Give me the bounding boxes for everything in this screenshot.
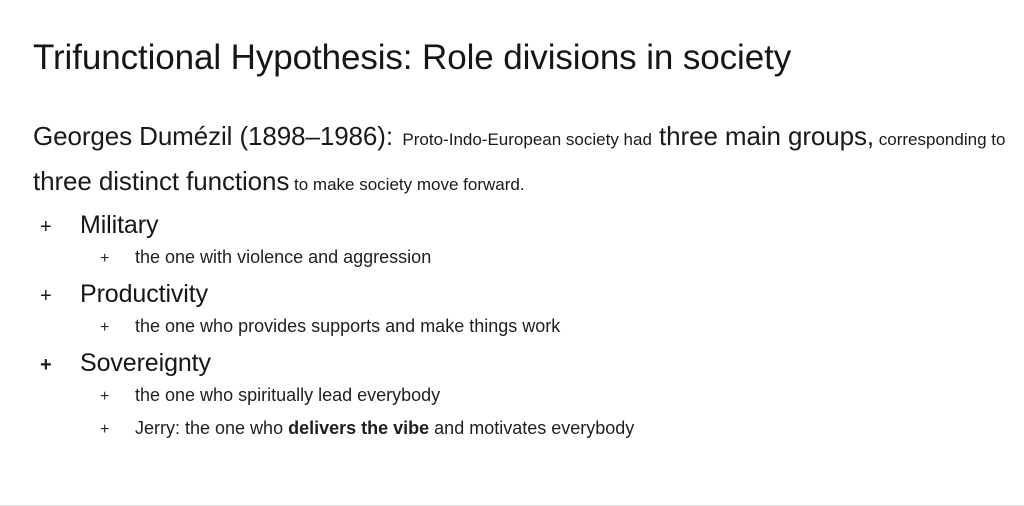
list-item-text-prefix: Jerry: the one who <box>135 418 288 438</box>
plus-icon: + <box>100 250 135 268</box>
list-item[interactable]: + Military <box>0 211 1024 247</box>
list-item[interactable]: + Productivity <box>0 280 1024 316</box>
list-item[interactable]: + the one who provides supports and make… <box>0 316 1024 349</box>
list-item-label: the one with violence and aggression <box>135 247 431 268</box>
lead-segment-forward: to make society move forward. <box>294 175 525 194</box>
list-item[interactable]: + the one who spiritually lead everybody <box>0 385 1024 418</box>
list-item[interactable]: + Sovereignty <box>0 349 1024 385</box>
list-item-label: the one who spiritually lead everybody <box>135 385 440 406</box>
slide-title: Trifunctional Hypothesis: Role divisions… <box>33 38 791 78</box>
list-item-text-bold: delivers the vibe <box>288 418 429 438</box>
lead-segment-three-functions: three distinct functions <box>33 166 289 196</box>
list-item-label: Military <box>80 211 158 240</box>
plus-icon: + <box>40 285 80 308</box>
lead-paragraph: Georges Dumézil (1898–1986): Proto-Indo-… <box>33 116 1008 206</box>
plus-icon: + <box>40 216 80 239</box>
bullet-list: + Military + the one with violence and a… <box>0 211 1024 451</box>
lead-segment-name: Georges Dumézil (1898–1986): <box>33 121 393 151</box>
list-item-text-suffix: and motivates everybody <box>429 418 634 438</box>
list-item-label: Productivity <box>80 280 208 309</box>
plus-icon: + <box>100 319 135 337</box>
lead-segment-corresponding: corresponding to <box>879 130 1006 149</box>
slide-canvas: Trifunctional Hypothesis: Role divisions… <box>0 0 1024 506</box>
list-item[interactable]: + the one with violence and aggression <box>0 247 1024 280</box>
list-item[interactable]: + Jerry: the one who delivers the vibe a… <box>0 418 1024 451</box>
list-item-label: Sovereignty <box>80 349 211 378</box>
lead-segment-proto: Proto-Indo-European society had <box>402 130 652 149</box>
plus-icon: + <box>100 421 135 439</box>
list-item-label: the one who provides supports and make t… <box>135 316 560 337</box>
list-item-label: Jerry: the one who delivers the vibe and… <box>135 418 634 439</box>
plus-icon: + <box>40 354 80 377</box>
lead-segment-three-groups: three main groups, <box>659 121 874 151</box>
plus-icon: + <box>100 388 135 406</box>
